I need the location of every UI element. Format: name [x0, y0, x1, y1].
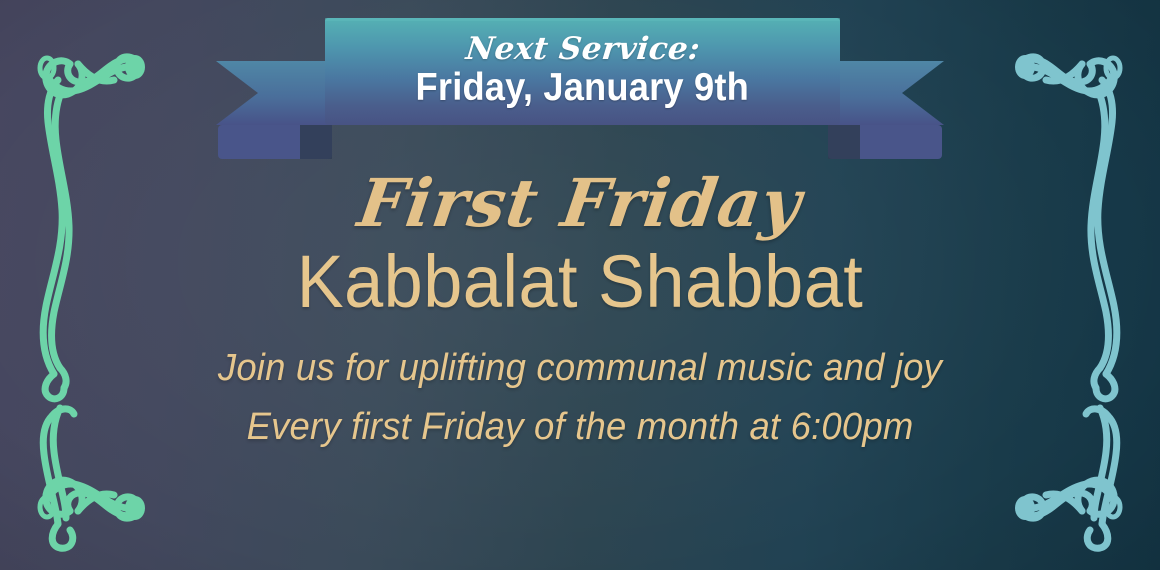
main-headline: Kabbalat Shabbat — [172, 244, 989, 321]
ribbon-date: Friday, January 9th — [416, 68, 749, 109]
poster-content: First Friday Kabbalat Shabbat Join us fo… — [150, 170, 1010, 457]
script-headline: First Friday — [145, 170, 1014, 236]
tagline-line-2: Every first Friday of the month at 6:00p… — [167, 398, 993, 457]
tagline-line-1: Join us for uplifting communal music and… — [167, 339, 993, 398]
event-poster: Next Service: Friday, January 9th First … — [0, 0, 1160, 570]
ribbon-text-block: Next Service: Friday, January 9th — [325, 18, 840, 125]
ribbon-kicker: Next Service: — [464, 34, 701, 65]
